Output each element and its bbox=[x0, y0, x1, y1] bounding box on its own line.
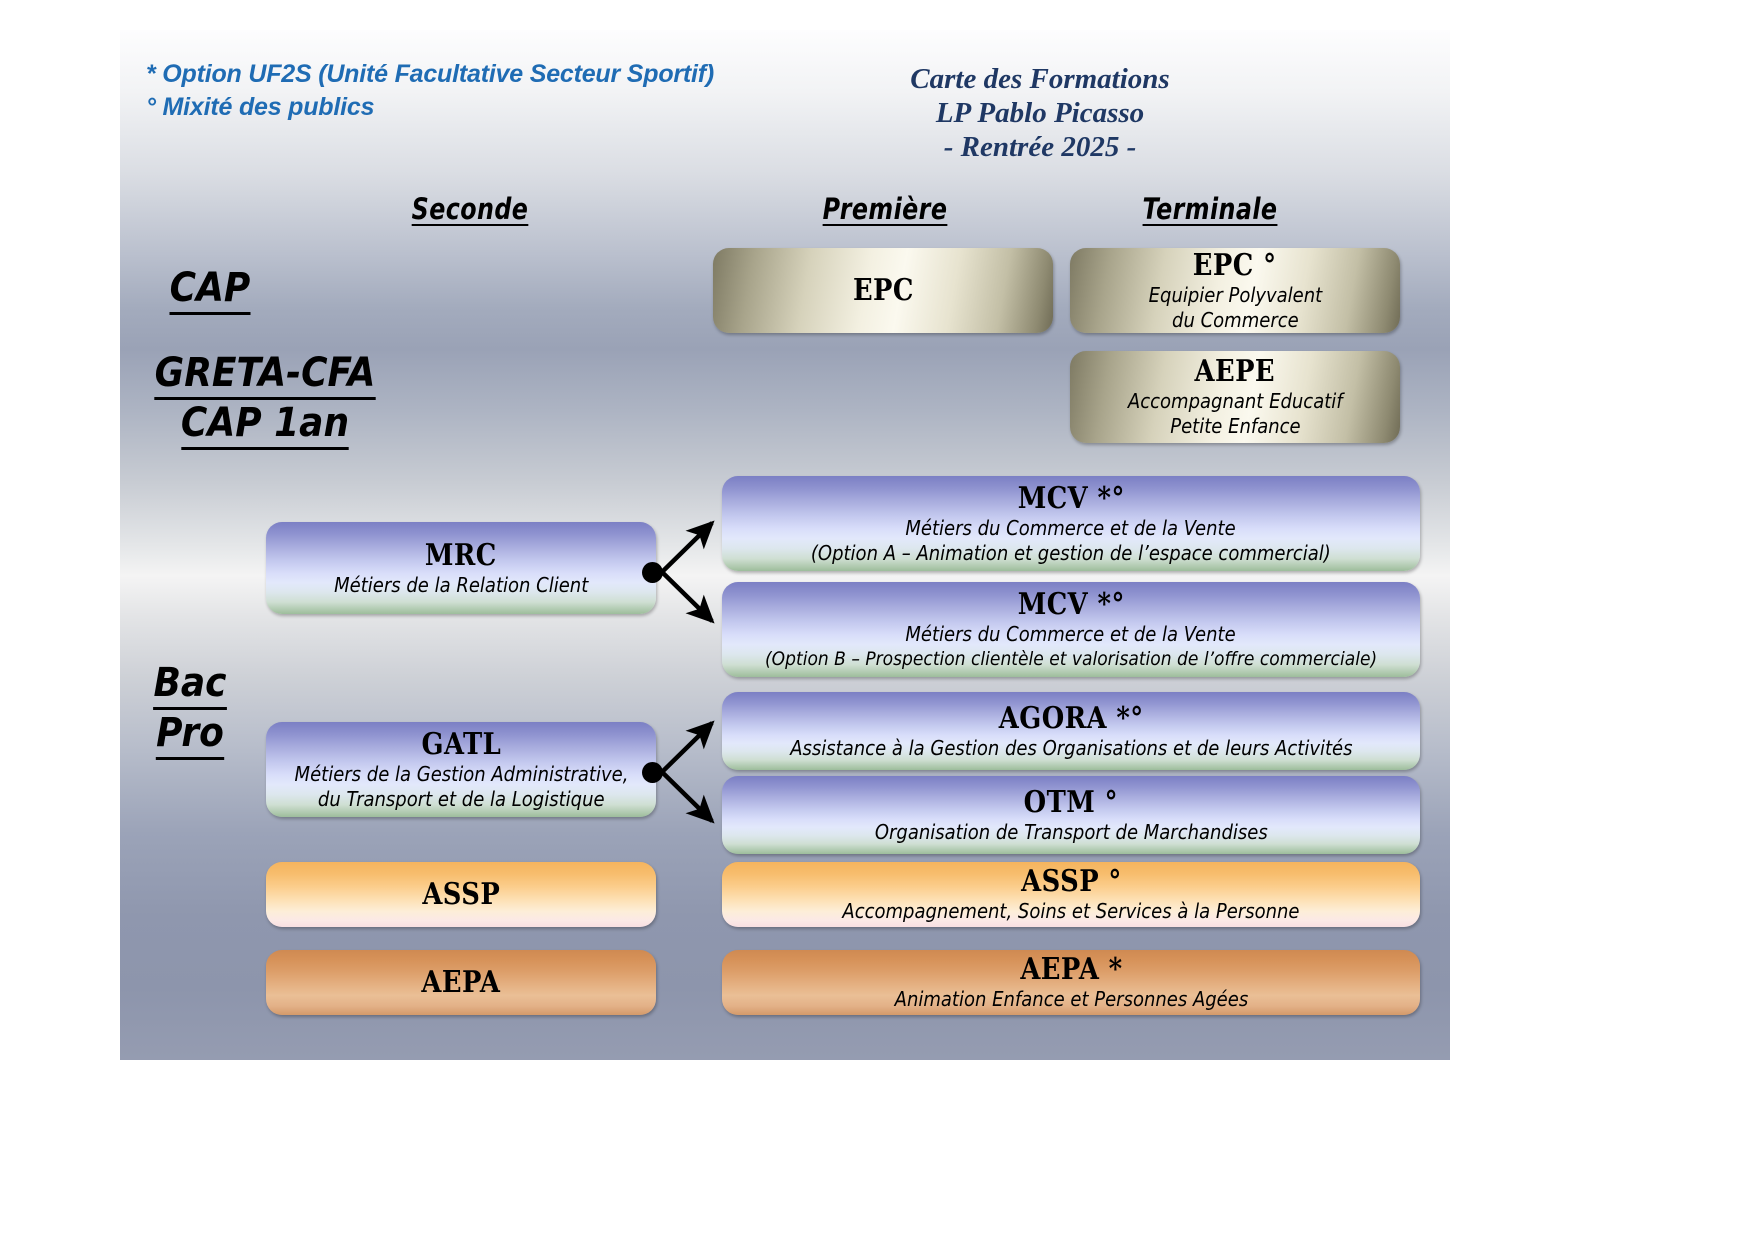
side-label-cap-text: CAP bbox=[170, 265, 251, 315]
box-mcv-option-a[interactable]: MCV *° Métiers du Commerce et de la Vent… bbox=[722, 476, 1420, 571]
box-mcv-b-code: MCV *° bbox=[1017, 588, 1124, 622]
title-line-1: Carte des Formations bbox=[830, 62, 1250, 96]
box-gatl-desc1: Métiers de la Gestion Administrative, bbox=[294, 762, 628, 787]
side-label-bacpro-line1: Bac bbox=[153, 660, 226, 710]
box-mcv-a-code: MCV *° bbox=[1017, 482, 1124, 516]
side-label-greta-line2: CAP 1an bbox=[181, 400, 349, 450]
box-epc-terminale-desc1: Equipier Polyvalent bbox=[1148, 283, 1322, 308]
box-mcv-a-desc2: (Option A – Animation et gestion de l’es… bbox=[811, 541, 1331, 566]
legend-line-uf2s: * Option UF2S (Unité Facultative Secteur… bbox=[146, 58, 714, 91]
box-aepa-seconde-code: AEPA bbox=[422, 966, 501, 1000]
box-assp-terminale-desc1: Accompagnement, Soins et Services à la P… bbox=[842, 899, 1299, 924]
box-aepe-terminale-code: AEPE bbox=[1195, 355, 1275, 389]
box-mcv-option-b[interactable]: MCV *° Métiers du Commerce et de la Vent… bbox=[722, 582, 1420, 677]
box-assp-terminale[interactable]: ASSP ° Accompagnement, Soins et Services… bbox=[722, 862, 1420, 927]
column-header-terminale: Terminale bbox=[1128, 192, 1292, 226]
legend: * Option UF2S (Unité Facultative Secteur… bbox=[146, 58, 714, 124]
box-epc-premiere[interactable]: EPC bbox=[713, 248, 1053, 333]
side-label-greta-line1: GRETA-CFA bbox=[155, 350, 376, 400]
box-epc-terminale-code: EPC ° bbox=[1193, 249, 1277, 283]
box-gatl-desc2: du Transport et de la Logistique bbox=[318, 787, 605, 812]
box-aepa-terminale-code: AEPA * bbox=[1020, 953, 1122, 987]
box-mrc-code: MRC bbox=[425, 539, 497, 573]
box-agora-terminale[interactable]: AGORA *° Assistance à la Gestion des Org… bbox=[722, 692, 1420, 770]
box-mcv-b-desc1: Métiers du Commerce et de la Vente bbox=[906, 622, 1236, 647]
column-header-premiere: Première bbox=[803, 192, 967, 226]
box-epc-premiere-code: EPC bbox=[853, 274, 914, 308]
box-gatl-seconde[interactable]: GATL Métiers de la Gestion Administrativ… bbox=[266, 722, 656, 817]
page-title: Carte des Formations LP Pablo Picasso - … bbox=[830, 62, 1250, 164]
box-aepa-seconde[interactable]: AEPA bbox=[266, 950, 656, 1015]
gatl-branch-node bbox=[642, 762, 663, 783]
box-mcv-a-desc1: Métiers du Commerce et de la Vente bbox=[906, 516, 1236, 541]
box-aepe-terminale[interactable]: AEPE Accompagnant Educatif Petite Enfanc… bbox=[1070, 351, 1400, 443]
box-aepa-terminale-desc1: Animation Enfance et Personnes Agées bbox=[894, 987, 1248, 1012]
box-otm-code: OTM ° bbox=[1024, 786, 1118, 820]
box-assp-terminale-code: ASSP ° bbox=[1021, 865, 1122, 899]
box-agora-code: AGORA *° bbox=[999, 702, 1144, 736]
box-assp-seconde[interactable]: ASSP bbox=[266, 862, 656, 927]
column-header-seconde: Seconde bbox=[388, 192, 552, 226]
box-otm-terminale[interactable]: OTM ° Organisation de Transport de March… bbox=[722, 776, 1420, 854]
title-line-3: - Rentrée 2025 - bbox=[830, 130, 1250, 164]
side-label-bac-pro: Bac Pro bbox=[109, 660, 271, 760]
side-label-greta-cfa: GRETA-CFA CAP 1an bbox=[117, 350, 414, 450]
box-aepe-terminale-desc1: Accompagnant Educatif bbox=[1128, 389, 1343, 414]
box-otm-desc1: Organisation de Transport de Marchandise… bbox=[875, 820, 1268, 845]
side-label-bacpro-line2: Pro bbox=[156, 710, 224, 760]
box-gatl-code: GATL bbox=[421, 728, 501, 762]
legend-line-mixite: ° Mixité des publics bbox=[146, 91, 714, 124]
box-mcv-b-desc2: (Option B – Prospection clientèle et val… bbox=[765, 647, 1377, 672]
box-agora-desc1: Assistance à la Gestion des Organisation… bbox=[790, 736, 1352, 761]
mrc-branch-node bbox=[642, 562, 663, 583]
box-epc-terminale-desc2: du Commerce bbox=[1172, 308, 1299, 333]
box-aepe-terminale-desc2: Petite Enfance bbox=[1170, 414, 1300, 439]
diagram-root: * Option UF2S (Unité Facultative Secteur… bbox=[0, 0, 1755, 1241]
side-label-cap: CAP bbox=[120, 265, 300, 315]
box-aepa-terminale[interactable]: AEPA * Animation Enfance et Personnes Ag… bbox=[722, 950, 1420, 1015]
box-epc-terminale[interactable]: EPC ° Equipier Polyvalent du Commerce bbox=[1070, 248, 1400, 333]
box-assp-seconde-code: ASSP bbox=[422, 878, 500, 912]
box-mrc-desc1: Métiers de la Relation Client bbox=[334, 573, 588, 598]
title-line-2: LP Pablo Picasso bbox=[830, 96, 1250, 130]
box-mrc-seconde[interactable]: MRC Métiers de la Relation Client bbox=[266, 522, 656, 614]
